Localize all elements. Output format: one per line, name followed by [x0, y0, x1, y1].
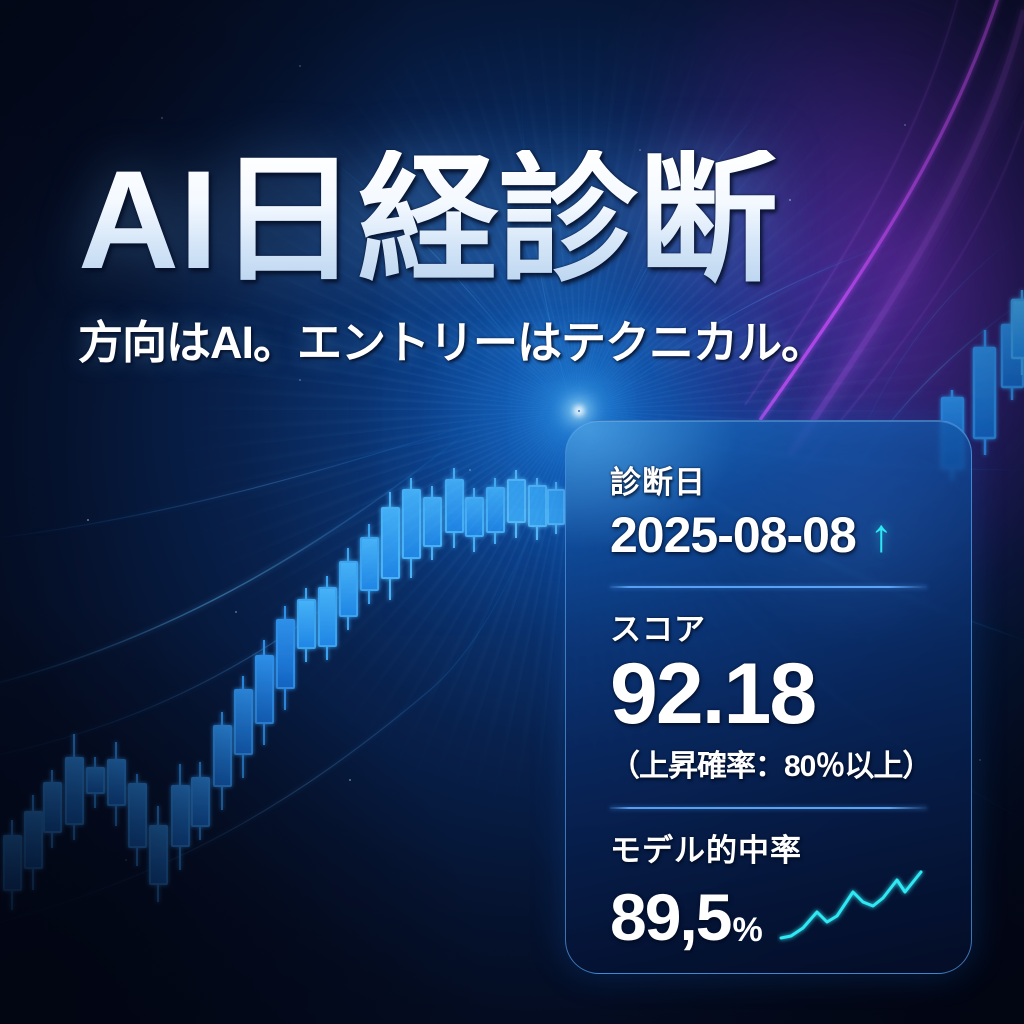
diagnosis-date-value-row: 2025-08-08 ↑ [610, 506, 927, 564]
accuracy-section: モデル的中率 89,5 % [610, 825, 927, 950]
score-section: スコア 92.18 （上昇確率：80％以上） [610, 604, 927, 785]
accuracy-value: 89,5 [610, 884, 730, 950]
score-value: 92.18 [610, 651, 927, 739]
trend-up-arrow-icon: ↑ [870, 512, 892, 558]
accuracy-trend-sparkline [777, 870, 927, 946]
diagnosis-date-section: 診断日 2025-08-08 ↑ [610, 457, 927, 564]
accuracy-value-row: 89,5 % [610, 870, 927, 950]
page-title: AI日経診断 [78, 150, 1024, 290]
hero-text-block: AI日経診断 方向はAI。エントリーはテクニカル。 [0, 150, 1024, 371]
score-note: （上昇確率：80％以上） [610, 741, 927, 785]
accuracy-label: モデル的中率 [610, 825, 927, 870]
accuracy-unit: % [732, 911, 762, 950]
accuracy-number-group: 89,5 % [610, 884, 763, 950]
diagnosis-summary-card: 診断日 2025-08-08 ↑ スコア 92.18 （上昇確率：80％以上） … [565, 420, 972, 974]
score-label: スコア [610, 604, 927, 649]
diagnosis-date-value: 2025-08-08 [610, 506, 856, 564]
poster-canvas: AI日経診断 方向はAI。エントリーはテクニカル。 診断日 2025-08-08… [0, 0, 1024, 1024]
page-subtitle: 方向はAI。エントリーはテクニカル。 [78, 306, 1024, 371]
diagnosis-date-label: 診断日 [610, 457, 927, 502]
